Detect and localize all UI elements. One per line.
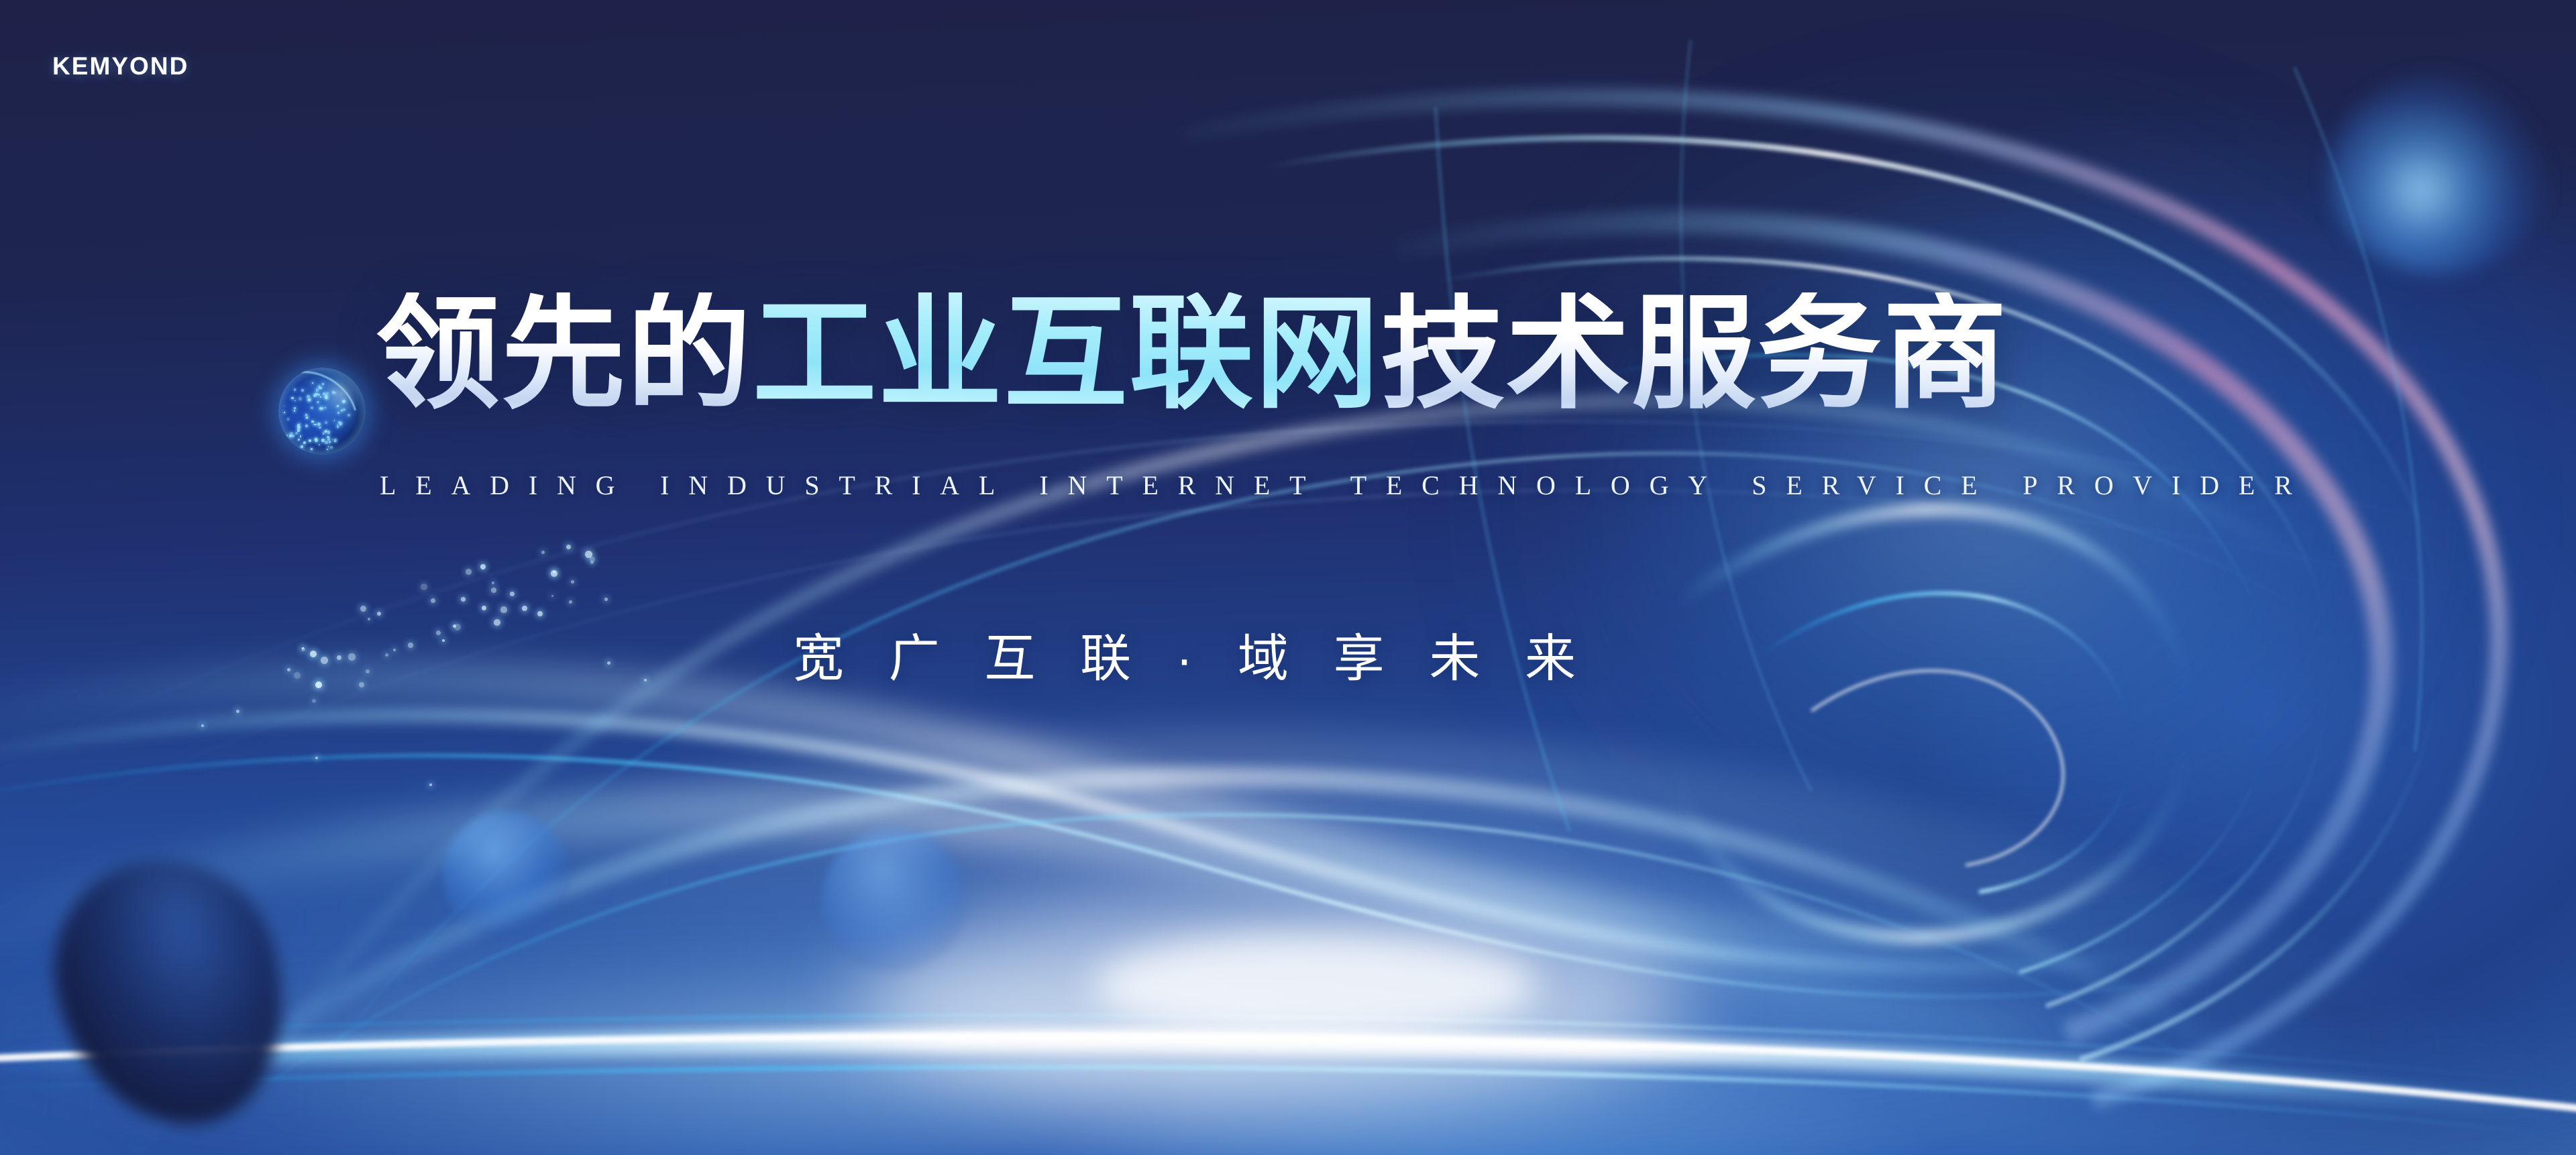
headline-segment-1: 领先的 [376, 292, 753, 417]
particle-sphere-rim [278, 368, 366, 455]
particle-specks [0, 0, 2576, 1155]
brand-logo[interactable]: KEMYOND [52, 52, 189, 80]
headline-segment-3: 技术服务商 [1381, 292, 2008, 417]
background-light-ribbons [0, 0, 2576, 1155]
page-title: 领先的工业互联网技术服务商 [376, 292, 2008, 417]
accent-lines [1436, 40, 2422, 832]
headline-segment-2: 工业互联网 [753, 292, 1381, 417]
center-hotspot [859, 899, 1690, 1100]
mid-left-sphere-icon [443, 812, 570, 939]
page-subtitle: LEADING INDUSTRIAL INTERNET TECHNOLOGY S… [380, 470, 2312, 501]
horizontal-light-beam [0, 966, 2576, 1138]
main-ribbons [0, 400, 2576, 1155]
bottom-left-sphere-icon [32, 836, 311, 1150]
ribbon-svg [0, 0, 2576, 1155]
mid-center-sphere-icon [822, 828, 966, 973]
top-right-orb-icon [2328, 74, 2549, 275]
hero-banner: KEMYOND 领先的工业互联网技术服务商 LEADING INDUSTRIAL… [0, 0, 2576, 1155]
vortex-rings [1181, 40, 2536, 1100]
page-tagline: 宽 广 互 联 · 域 享 未 来 [793, 617, 1591, 691]
particle-sphere-icon [278, 368, 366, 455]
